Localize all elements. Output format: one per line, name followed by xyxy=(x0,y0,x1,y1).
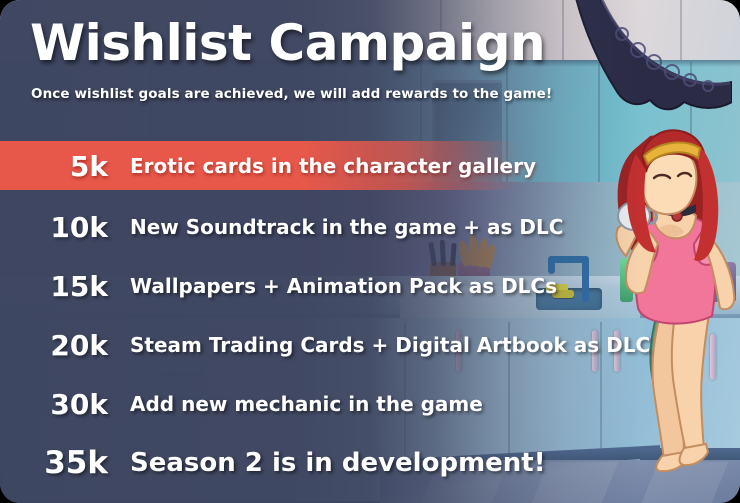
goal-amount: 5k xyxy=(0,150,108,183)
goal-amount: 15k xyxy=(0,270,108,303)
goal-reward: Steam Trading Cards + Digital Artbook as… xyxy=(130,333,650,357)
goal-amount: 20k xyxy=(0,329,108,362)
goal-amount: 35k xyxy=(0,445,108,481)
goal-reward: Erotic cards in the character gallery xyxy=(130,154,536,178)
page-subtitle: Once wishlist goals are achieved, we wil… xyxy=(31,86,552,102)
wishlist-campaign-card: Wishlist Campaign Once wishlist goals ar… xyxy=(0,0,740,503)
goal-reward: Season 2 is in development! xyxy=(130,448,546,478)
goal-row-10k[interactable]: 10k New Soundtrack in the game + as DLC xyxy=(0,202,740,252)
goal-row-20k[interactable]: 20k Steam Trading Cards + Digital Artboo… xyxy=(0,320,740,370)
goal-row-35k[interactable]: 35k Season 2 is in development! xyxy=(0,438,740,488)
goal-row-5k[interactable]: 5k Erotic cards in the character gallery xyxy=(0,141,740,191)
goal-reward: New Soundtrack in the game + as DLC xyxy=(130,215,563,239)
goal-row-30k[interactable]: 30k Add new mechanic in the game xyxy=(0,379,740,429)
goal-reward: Add new mechanic in the game xyxy=(130,392,483,416)
goal-amount: 30k xyxy=(0,388,108,421)
goal-amount: 10k xyxy=(0,211,108,244)
card-content: Wishlist Campaign Once wishlist goals ar… xyxy=(0,0,740,503)
page-title: Wishlist Campaign xyxy=(30,14,545,72)
goal-reward: Wallpapers + Animation Pack as DLCs xyxy=(130,274,557,298)
goal-row-15k[interactable]: 15k Wallpapers + Animation Pack as DLCs xyxy=(0,261,740,311)
